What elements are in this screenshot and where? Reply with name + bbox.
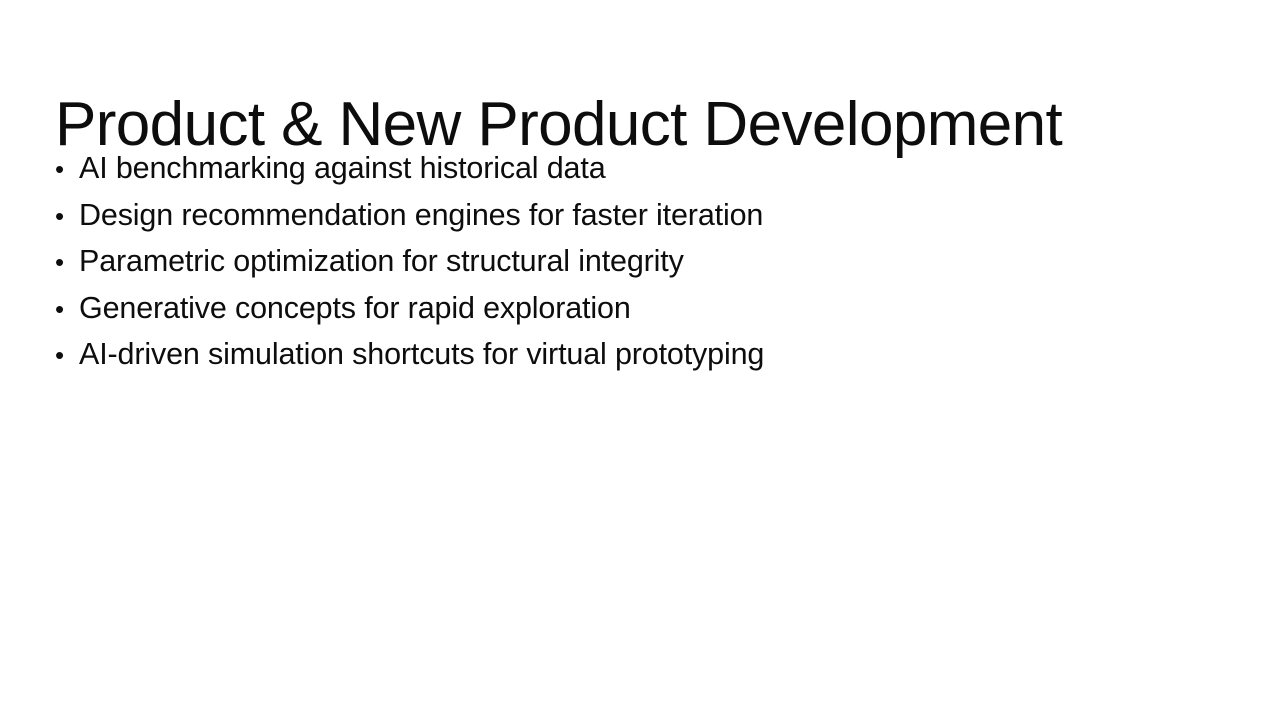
bullet-dot-icon: • bbox=[55, 193, 79, 240]
bullet-dot-icon: • bbox=[55, 286, 79, 333]
list-item-label: Design recommendation engines for faster… bbox=[79, 192, 763, 239]
bullet-dot-icon: • bbox=[55, 239, 79, 286]
list-item: • Design recommendation engines for fast… bbox=[55, 192, 1225, 239]
list-item-label: AI benchmarking against historical data bbox=[79, 145, 606, 192]
list-item: • Generative concepts for rapid explorat… bbox=[55, 285, 1225, 332]
list-item: • AI-driven simulation shortcuts for vir… bbox=[55, 331, 1225, 378]
list-item-label: Parametric optimization for structural i… bbox=[79, 238, 684, 285]
bullet-dot-icon: • bbox=[55, 146, 79, 193]
list-item: • Parametric optimization for structural… bbox=[55, 238, 1225, 285]
bullet-list: • AI benchmarking against historical dat… bbox=[55, 145, 1225, 378]
list-item-label: Generative concepts for rapid exploratio… bbox=[79, 285, 631, 332]
presentation-slide: Product & New Product Development • AI b… bbox=[0, 0, 1280, 720]
list-item-label: AI-driven simulation shortcuts for virtu… bbox=[79, 331, 764, 378]
bullet-dot-icon: • bbox=[55, 332, 79, 379]
list-item: • AI benchmarking against historical dat… bbox=[55, 145, 1225, 192]
